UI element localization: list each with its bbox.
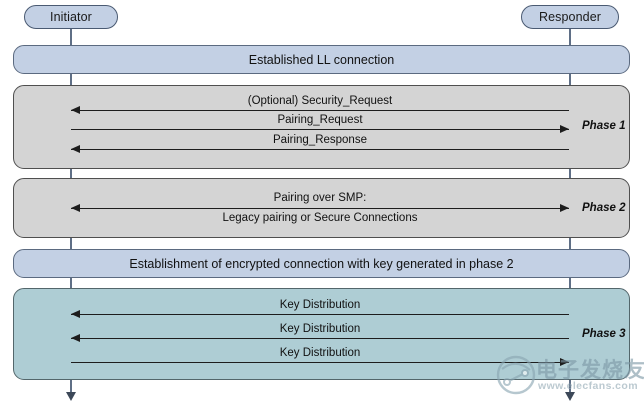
message-arrowhead-pairing-over-smp-right bbox=[560, 204, 569, 212]
message-arrowhead-security-request bbox=[71, 106, 80, 114]
message-line-key-distribution-1 bbox=[71, 314, 569, 315]
message-line-key-distribution-3 bbox=[71, 362, 569, 363]
band-encrypted-connection: Establishment of encrypted connection wi… bbox=[13, 249, 630, 278]
message-label-key-distribution-3: Key Distribution bbox=[71, 347, 569, 359]
message-line-key-distribution-2 bbox=[71, 338, 569, 339]
band-encrypted-connection-label: Establishment of encrypted connection wi… bbox=[14, 257, 629, 271]
message-line-security-request bbox=[71, 110, 569, 111]
phase-label-3: Phase 3 bbox=[582, 328, 625, 340]
message-arrowhead-pairing-request bbox=[560, 125, 569, 133]
message-label-key-distribution-2: Key Distribution bbox=[71, 323, 569, 335]
actor-initiator[interactable]: Initiator bbox=[24, 5, 118, 29]
message-label-pairing-request: Pairing_Request bbox=[71, 114, 569, 126]
message-line-pairing-request bbox=[71, 129, 569, 130]
message-line-pairing-over-smp bbox=[71, 208, 569, 209]
message-arrowhead-key-distribution-2 bbox=[71, 334, 80, 342]
watermark-url: www.elecfans.com bbox=[538, 380, 638, 392]
sequence-diagram: Initiator Responder Established LL conne… bbox=[0, 0, 644, 410]
message-label-pairing-over-smp: Pairing over SMP: bbox=[71, 192, 569, 204]
band-established-ll-connection-label: Established LL connection bbox=[14, 53, 629, 67]
message-label-key-distribution-1: Key Distribution bbox=[71, 299, 569, 311]
message-arrowhead-key-distribution-1 bbox=[71, 310, 80, 318]
message-arrowhead-pairing-response bbox=[71, 145, 80, 153]
phase-label-2: Phase 2 bbox=[582, 202, 625, 214]
phase-label-1: Phase 1 bbox=[582, 120, 625, 132]
lifeline-end-arrow-initiator bbox=[66, 392, 76, 401]
message-label-legacy-pairing: Legacy pairing or Secure Connections bbox=[71, 212, 569, 224]
message-label-security-request: (Optional) Security_Request bbox=[71, 95, 569, 107]
lifeline-end-arrow-responder bbox=[565, 392, 575, 401]
message-line-pairing-response bbox=[71, 149, 569, 150]
message-arrowhead-key-distribution-3 bbox=[560, 358, 569, 366]
actor-responder[interactable]: Responder bbox=[521, 5, 619, 29]
band-established-ll-connection: Established LL connection bbox=[13, 45, 630, 74]
message-label-pairing-response: Pairing_Response bbox=[71, 134, 569, 146]
message-arrowhead-pairing-over-smp-left bbox=[71, 204, 80, 212]
